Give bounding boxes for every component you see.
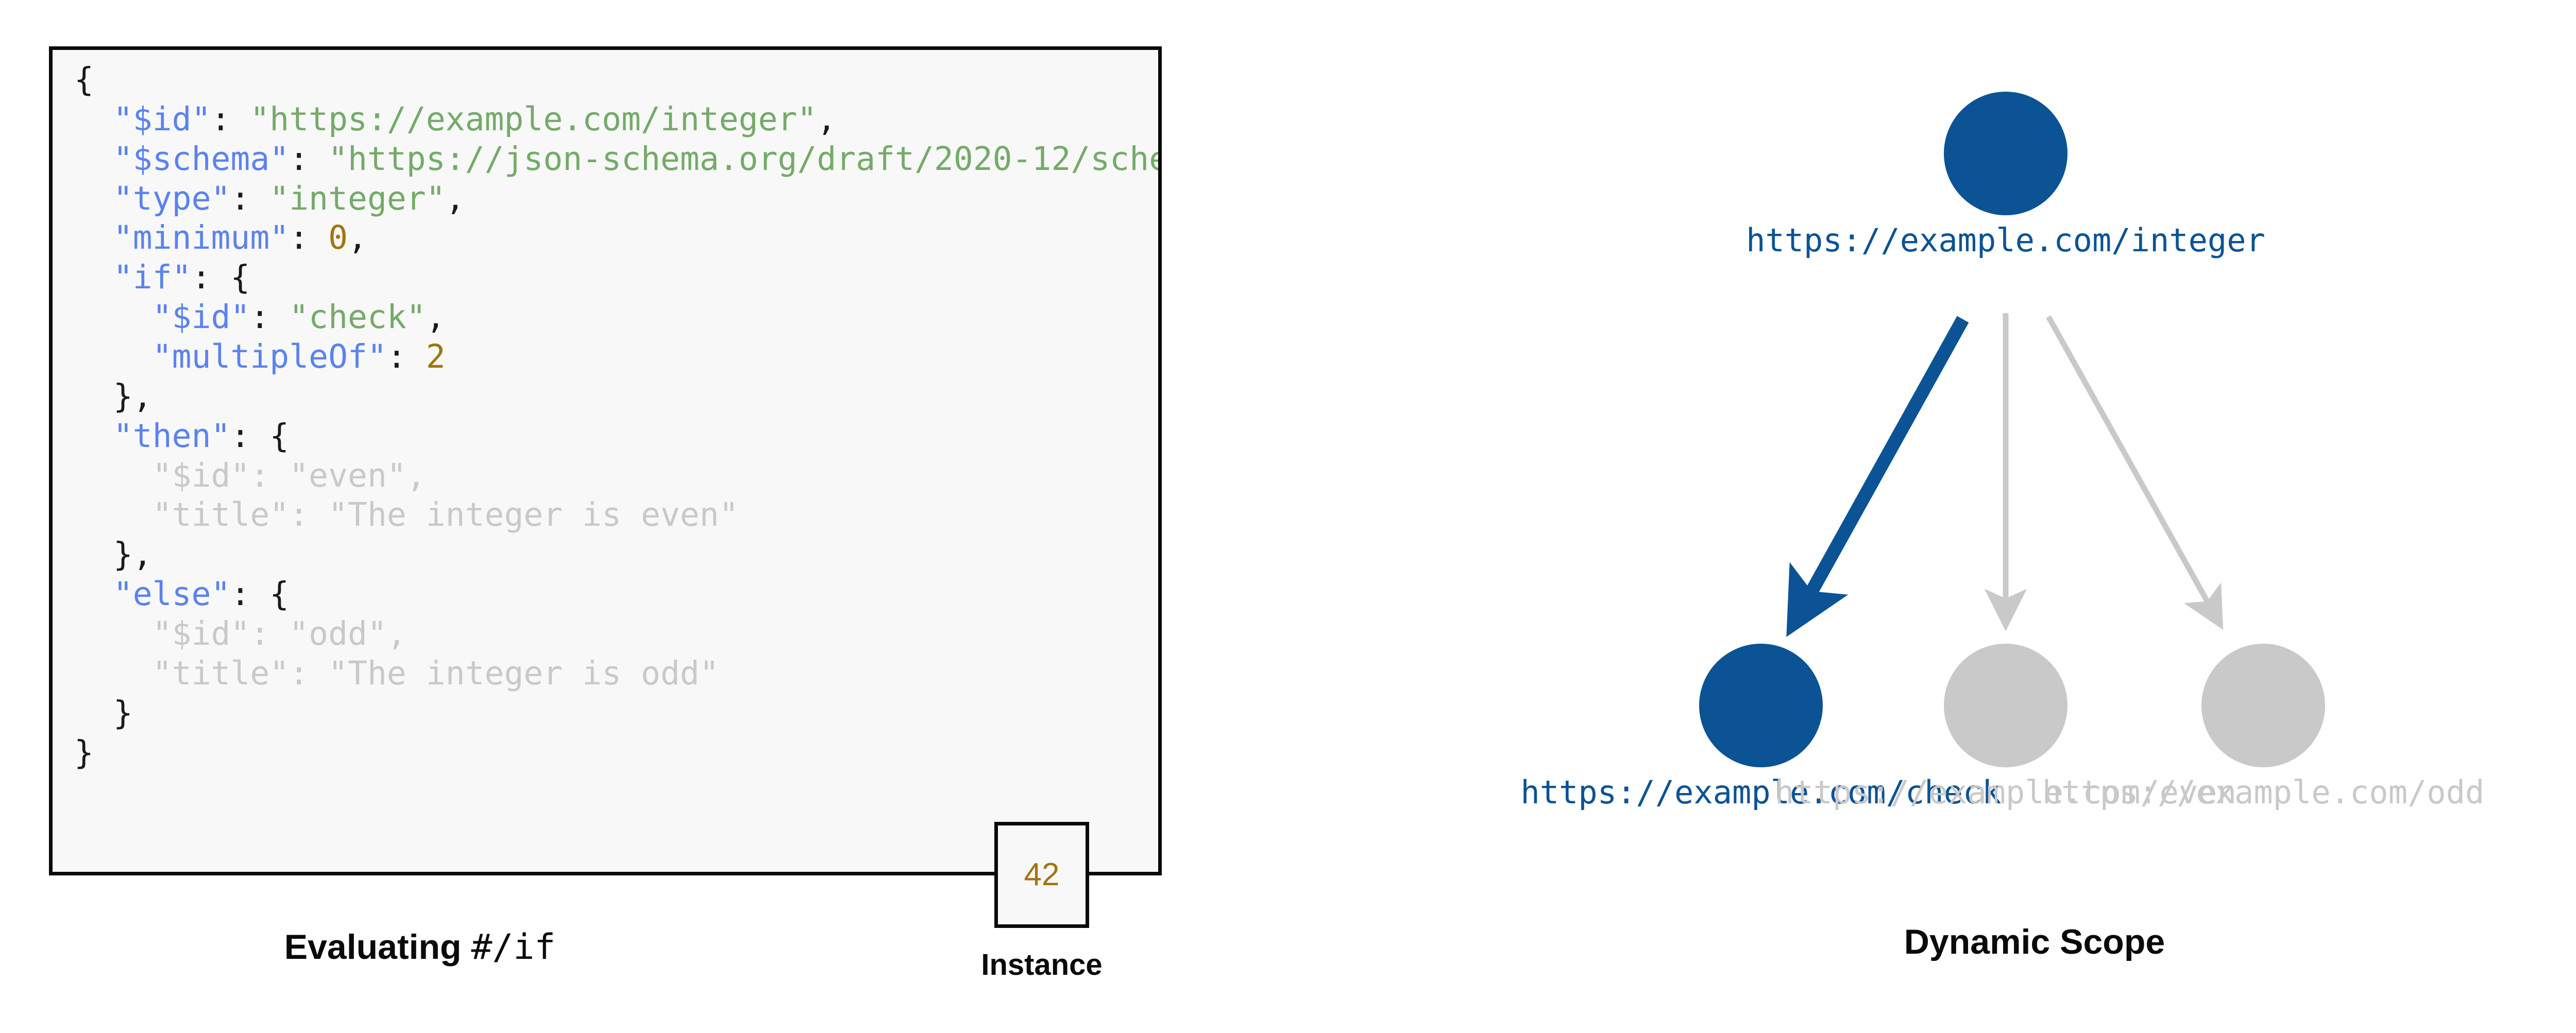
code-token-key: "$id" (152, 298, 250, 336)
code-token-num: 2 (426, 338, 446, 375)
code-token-punct: : (211, 100, 250, 138)
code-token-punct: : (289, 140, 328, 178)
graph-edge-integer-to-odd (2048, 317, 2218, 621)
code-token-key: "minimum" (113, 219, 289, 256)
code-token-str: "https://json-schema.org/draft/2020-12/s… (328, 140, 1162, 178)
schema-code-block: { "$id": "https://example.com/integer", … (49, 46, 1162, 875)
instance-caption: Instance (952, 948, 1132, 982)
code-token-dim: "title": "The integer is even" (152, 496, 739, 533)
code-token-punct: : (250, 298, 289, 336)
graph-nodes (1699, 92, 2325, 767)
code-token-punct: : (289, 219, 328, 256)
code-token-punct: , (446, 180, 465, 217)
code-token-num: 0 (328, 219, 348, 256)
code-token-punct: : (230, 180, 269, 217)
code-token-punct: { (74, 61, 94, 98)
code-token-str: "integer" (269, 180, 445, 217)
code-token-punct: } (113, 694, 133, 732)
evaluating-caption-pointer: #/if (471, 927, 555, 968)
schema-code-text: { "$id": "https://example.com/integer", … (74, 60, 1162, 772)
graph-edge-integer-to-check (1795, 319, 1963, 621)
code-token-punct: }, (113, 536, 152, 573)
code-token-dim: "$id": "odd", (152, 615, 406, 652)
code-token-str: "check" (289, 298, 426, 336)
code-token-punct: : { (230, 575, 289, 613)
code-token-dim: "$id": "even", (152, 457, 426, 494)
code-token-key: "else" (113, 575, 231, 613)
schema-panel: { "$id": "https://example.com/integer", … (0, 0, 1236, 1033)
code-token-punct: : { (230, 417, 289, 455)
instance-value: 42 (1024, 859, 1060, 891)
code-token-key: "if" (113, 259, 192, 296)
graph-node-label-odd: https://example.com/odd (2042, 773, 2485, 811)
code-token-key: "$schema" (113, 140, 289, 178)
instance-box: 42 (994, 822, 1089, 928)
graph-node-check[interactable] (1699, 644, 1823, 767)
code-token-key: "multipleOf" (152, 338, 387, 375)
code-token-punct: } (74, 734, 94, 771)
code-token-key: "type" (113, 180, 231, 217)
code-token-punct: : (387, 338, 426, 375)
evaluating-caption-prefix: Evaluating (284, 927, 471, 967)
code-token-punct: , (426, 298, 446, 336)
code-token-dim: "title": "The integer is odd" (152, 655, 719, 692)
graph-node-odd[interactable] (2201, 644, 2325, 767)
code-token-str: "https://example.com/integer" (250, 100, 817, 138)
dynamic-scope-panel: https://example.com/integerhttps://examp… (1236, 0, 2576, 1033)
code-token-punct: , (817, 100, 836, 138)
code-token-punct: }, (113, 377, 152, 415)
code-token-key: "then" (113, 417, 231, 455)
evaluating-caption: Evaluating #/if (0, 927, 840, 968)
dynamic-scope-graph (1236, 0, 2576, 1033)
dynamic-scope-caption: Dynamic Scope (1700, 922, 2369, 962)
graph-node-even[interactable] (1944, 644, 2067, 767)
code-token-punct: , (348, 219, 367, 256)
code-token-key: "$id" (113, 100, 211, 138)
graph-edges (1795, 313, 2218, 621)
graph-node-integer[interactable] (1944, 92, 2067, 215)
code-token-punct: : { (192, 259, 250, 296)
graph-node-label-integer: https://example.com/integer (1746, 221, 2265, 259)
